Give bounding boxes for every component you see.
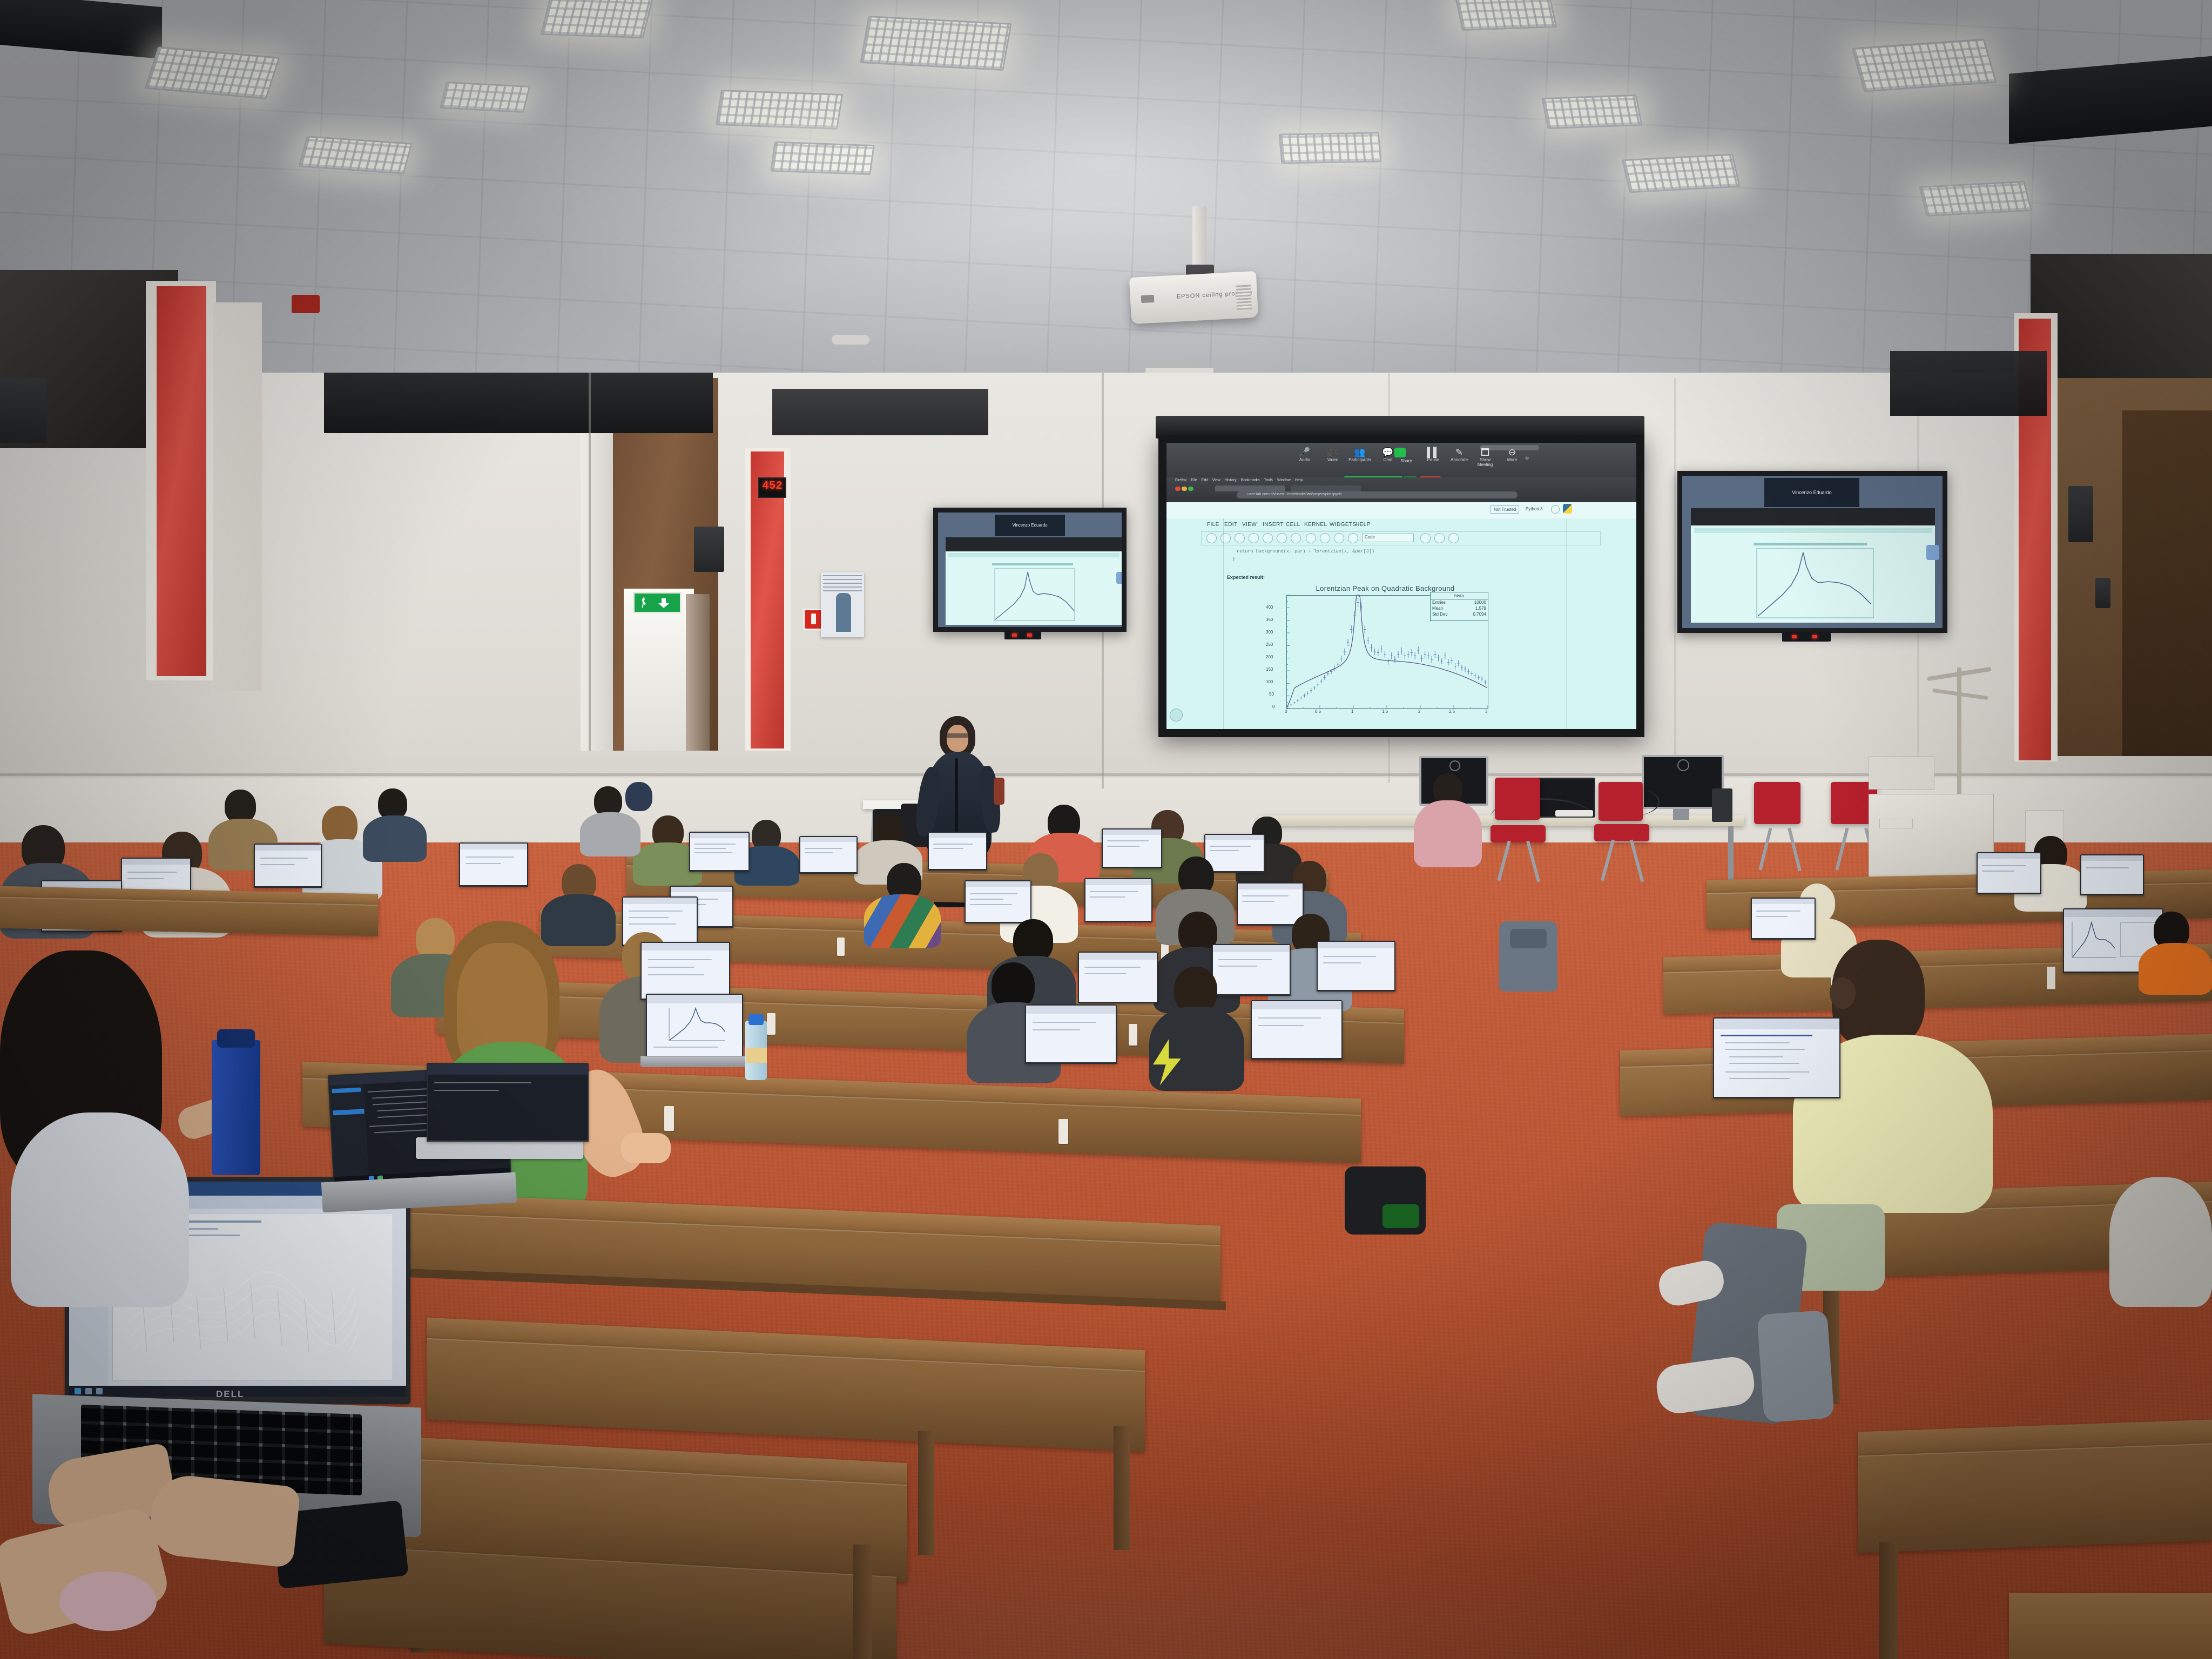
ceiling-light	[1851, 38, 1997, 92]
right-laptop-chart	[2071, 921, 2117, 959]
projector: EPSON ceiling projector	[1129, 271, 1258, 324]
screen-toolbar	[1318, 942, 1394, 948]
left-tv-chart	[992, 567, 1078, 623]
code-cell-close: }	[1232, 556, 1235, 562]
laptop-screen	[1103, 829, 1161, 867]
right-desk-row-f	[2009, 1593, 2212, 1659]
laptop-screen	[800, 837, 857, 872]
desk-leg	[853, 1545, 872, 1659]
fire-alarm-box	[292, 295, 320, 313]
instructor-head	[947, 725, 968, 752]
laptop[interactable]	[1204, 834, 1265, 873]
screen-toolbar	[1085, 879, 1151, 885]
running-man-icon	[641, 597, 646, 608]
ide-sidebar	[329, 1084, 369, 1177]
wall-speaker-left	[0, 378, 46, 443]
chart-xtick: 1.5	[1382, 709, 1388, 714]
bottle-cap	[748, 1014, 764, 1025]
ceiling-light	[1919, 181, 2032, 217]
chart-ytick: 50	[1269, 692, 1274, 697]
desktop-tower	[1712, 788, 1732, 822]
left-tv-led-strip	[1004, 631, 1041, 639]
projection-screen: 🎤 Audio 🎥 Video 👥 Participants 💬 Chat Sh…	[1166, 443, 1636, 729]
firefox-menu-history[interactable]: History	[1225, 478, 1237, 482]
student-orange-top	[2139, 943, 2212, 995]
firefox-menu-file[interactable]: File	[1191, 478, 1197, 482]
left-tv-lock-icon	[1116, 572, 1122, 584]
desk-clip	[767, 1013, 775, 1035]
laptop[interactable]	[1212, 944, 1291, 996]
laptop-screen	[1252, 1001, 1341, 1058]
zoom-meeting-toolbar[interactable]: 🎤 Audio 🎥 Video 👥 Participants 💬 Chat Sh…	[1166, 443, 1636, 477]
screen-toolbar	[1026, 1006, 1116, 1014]
dell-logo-icon	[1449, 760, 1460, 771]
right-tv-lock-icon	[1926, 545, 1939, 560]
neighbor-laptop-screen	[428, 1064, 588, 1140]
laptop-screen	[690, 833, 748, 870]
wall-speaker-right-2	[2095, 578, 2110, 608]
chart-ytick: 0	[1272, 704, 1274, 709]
screen-toolbar	[1079, 953, 1157, 960]
zoom-statusbar	[1480, 445, 1539, 450]
red-chair	[1495, 778, 1540, 820]
notebook-menu-kernel[interactable]: KERNEL	[1304, 522, 1327, 528]
laptop[interactable]	[2080, 854, 2144, 895]
firefox-menu-view[interactable]: View	[1212, 478, 1220, 482]
notebook-body: FILE EDIT VIEW INSERT CELL KERNEL WIDGET…	[1166, 518, 1636, 729]
screen-toolbar	[623, 898, 697, 904]
chart-ytick: 200	[1266, 655, 1273, 659]
ceiling-light	[1279, 132, 1382, 164]
laptop-screen	[1079, 953, 1157, 1002]
window-blind-right	[1890, 351, 2047, 416]
left-tv-nb-toolbar	[948, 553, 1120, 557]
laptop-screen	[647, 995, 742, 1056]
wall-poster	[821, 572, 864, 637]
laptop[interactable]	[799, 836, 858, 874]
chart-xtick: 3	[1485, 709, 1487, 714]
screen-toolbar	[929, 833, 986, 838]
screen-toolbar	[966, 881, 1030, 887]
left-tv-participant-name: Vincenzo Eduardo	[995, 515, 1065, 536]
zoom-menu-label[interactable]: ⚙	[1525, 456, 1529, 461]
window-blind-mid	[772, 389, 988, 435]
chart-ytick: 400	[1266, 605, 1273, 610]
projector-vent	[1236, 283, 1252, 309]
chart-ytick: 100	[1266, 679, 1273, 684]
zoom-annotate-label: Annotate	[1451, 457, 1468, 462]
grey-column-left	[213, 302, 262, 691]
chart-xtick: 2	[1418, 709, 1420, 714]
screen-toolbar	[1714, 1019, 1839, 1029]
laptop[interactable]	[1751, 898, 1816, 940]
chart-xtick: 0.5	[1315, 709, 1321, 714]
dell-logo-icon	[1677, 759, 1689, 771]
laptop-screen	[1205, 835, 1264, 871]
wall-seam	[589, 373, 591, 751]
left-tv-chart-title	[992, 563, 1073, 565]
screen-toolbar	[690, 833, 748, 838]
zoom-pause-label: Pause	[1427, 457, 1440, 462]
notebook-menu-edit[interactable]: EDIT	[1224, 522, 1237, 528]
screen-toolbar	[1213, 945, 1290, 952]
red-chair-seat	[1594, 824, 1649, 841]
right-tv-chart-title	[1754, 543, 1867, 545]
right-desk-row-e-face	[1858, 1444, 2212, 1553]
kernel-busy-indicator	[1551, 505, 1560, 514]
zoom-video-label: Video	[1327, 457, 1338, 462]
ceiling-light	[1454, 0, 1557, 31]
door-right	[2122, 410, 2212, 756]
zoom-participants-label: Participants	[1348, 457, 1371, 462]
laptop-screen	[1213, 945, 1290, 994]
desk-leg	[1114, 1426, 1130, 1550]
laptop-screen	[1714, 1019, 1839, 1097]
notebook-header: Not Trusted Python 3	[1166, 502, 1636, 518]
chart-ytick: 350	[1266, 617, 1273, 622]
screen-toolbar	[1103, 829, 1161, 835]
laptop-screen	[460, 844, 527, 885]
right-tv-led-strip	[1782, 632, 1831, 642]
pause-icon: ▌▌	[1420, 447, 1446, 457]
laptop[interactable]	[1102, 828, 1162, 868]
laptop[interactable]	[640, 942, 730, 1000]
power-strip	[1555, 810, 1593, 817]
camera-icon: 🎥	[1320, 447, 1346, 457]
right-wall-tv: Vincenzo Eduardo	[1677, 471, 1947, 633]
laptop[interactable]	[459, 842, 528, 887]
screen-toolbar	[1978, 853, 2040, 859]
screen-toolbar	[255, 845, 321, 851]
laptop-screen	[1978, 853, 2040, 893]
student-leg	[1757, 1310, 1835, 1423]
laptop-base	[640, 1056, 746, 1067]
screen-toolbar	[428, 1064, 588, 1075]
laptop-screen	[1752, 899, 1815, 938]
microphone-icon: 🎤	[1292, 447, 1318, 457]
right-tv-participant-name: Vincenzo Eduardo	[1764, 478, 1859, 507]
ceiling-light	[1541, 95, 1642, 129]
laptop-screen	[255, 845, 321, 886]
laptop[interactable]	[1025, 1004, 1117, 1064]
pencil-icon: ✎	[1446, 447, 1472, 457]
desk-clip	[664, 1106, 674, 1131]
screen-toolbar	[642, 943, 729, 950]
student-torso-patterned	[864, 894, 941, 948]
firefox-menu-help[interactable]: Help	[1295, 478, 1303, 482]
laptop[interactable]	[1251, 1000, 1343, 1060]
zoom-audio-label: Audio	[1299, 457, 1310, 462]
notebook-gutter-line	[1223, 518, 1224, 729]
laptop[interactable]	[1084, 878, 1152, 922]
student-cap	[625, 782, 652, 811]
cabinet-drawer	[1879, 819, 1913, 828]
ceiling-light	[860, 16, 1012, 71]
firefox-menu-window[interactable]: Window	[1277, 478, 1291, 482]
chart-ytick: 300	[1266, 630, 1273, 635]
notebook-menu-help[interactable]: HELP	[1355, 522, 1371, 528]
zoom-chat-label: Chat	[1384, 457, 1393, 462]
zoom-show-meeting-label: Show Meeting	[1478, 457, 1493, 467]
zoom-more-label: More	[1507, 457, 1517, 462]
taskbar-app-icon[interactable]	[85, 1388, 92, 1394]
address-bar-url: user-lab.cern.ch/user/.../notebooks/lab/…	[1247, 493, 1507, 496]
fire-extinguisher-icon	[811, 613, 816, 624]
code-cell-line: return background(x, par) + lorentzian(x…	[1237, 549, 1374, 554]
screen-toolbar	[122, 859, 190, 865]
front-bench-leg	[1728, 826, 1734, 888]
laptop[interactable]	[254, 844, 322, 888]
chart-xtick: 2.5	[1449, 709, 1455, 714]
laptop[interactable]	[1078, 952, 1158, 1003]
foreground-student-laptop[interactable]	[1713, 1017, 1840, 1098]
foreground-student-ear	[1830, 977, 1856, 1009]
taskbar-app-icon[interactable]	[96, 1388, 103, 1394]
left-tv-browser-chrome	[946, 537, 1122, 552]
firefox-browser-chrome: Firefox File Edit View History Bookmarks…	[1166, 477, 1636, 502]
laptop-screen	[966, 881, 1030, 922]
laptop-screen	[929, 833, 986, 869]
zoom-share-button[interactable]: Share	[1393, 458, 1419, 463]
blue-water-bottle	[212, 1040, 260, 1175]
screen-toolbar	[2081, 855, 2143, 861]
poster-text-lines	[823, 575, 862, 591]
ceiling-light	[770, 141, 875, 175]
user-hand-right	[147, 1472, 301, 1568]
browser-tab[interactable]	[1291, 485, 1361, 491]
poster-figure	[836, 593, 851, 632]
down-arrow-icon	[658, 598, 669, 608]
laptop[interactable]	[1237, 882, 1304, 926]
right-wall-tv-screen: Vincenzo Eduardo	[1682, 476, 1943, 628]
laptop[interactable]	[1977, 852, 2041, 894]
notebook-trust-badge: Not Trusted	[1491, 505, 1519, 514]
screen-toolbar	[800, 837, 857, 842]
floor-bag-detail	[1382, 1204, 1419, 1228]
laptop-screen	[2081, 855, 2143, 894]
front-student-torso	[1414, 800, 1482, 867]
zoom-audio-button[interactable]: 🎤 Audio	[1292, 447, 1318, 462]
window-maximize-icon[interactable]	[1188, 487, 1193, 491]
screen-toolbar	[1252, 1001, 1341, 1009]
red-chair	[1599, 782, 1643, 821]
laptop-screen	[1085, 879, 1151, 921]
water-bottle	[994, 778, 1004, 805]
red-chair	[1754, 782, 1800, 824]
wall-speaker-mid	[694, 527, 724, 572]
lorentzian-chart: Lorentzian Peak on Quadratic Background …	[1258, 584, 1512, 720]
window-minimize-icon[interactable]	[1182, 487, 1187, 491]
screen-toolbar	[1205, 835, 1264, 840]
desk-clip	[1129, 1024, 1137, 1046]
bottle-cap	[217, 1029, 255, 1048]
notebook-menu-cell[interactable]: CELL	[1286, 522, 1300, 528]
laptop-screen	[642, 943, 729, 999]
desk-leg	[918, 1431, 934, 1555]
projector-lens	[1141, 295, 1155, 303]
zoom-participants-button[interactable]: 👥 Participants	[1347, 447, 1373, 462]
windows-start-icon[interactable]	[75, 1388, 81, 1394]
firefox-menu-bar[interactable]: Firefox File Edit View History Bookmarks…	[1175, 478, 1303, 482]
ceiling-light	[716, 90, 843, 130]
student-torso	[580, 812, 640, 857]
zoom-annotate-button[interactable]: ✎ Annotate	[1446, 447, 1472, 462]
ceiling-light	[540, 0, 653, 38]
zoom-video-button[interactable]: 🎥 Video	[1320, 447, 1346, 462]
laptop-screen	[1026, 1006, 1116, 1062]
notebook-menu-file[interactable]: FILE	[1207, 522, 1219, 528]
desk-clip	[1058, 1119, 1068, 1144]
chart-xtick: 1	[1351, 709, 1353, 714]
laptop[interactable]	[928, 832, 987, 871]
student-torso-edge	[2109, 1177, 2212, 1307]
neighbor-laptop[interactable]	[427, 1063, 589, 1142]
screen-toolbar	[1752, 899, 1815, 904]
ceiling-speaker	[832, 335, 869, 345]
student-head	[225, 790, 256, 823]
notebook-menu-insert[interactable]: INSERT	[1263, 522, 1284, 528]
backpack-pocket	[1510, 929, 1547, 948]
laptop[interactable]	[965, 880, 1031, 923]
exit-sign	[633, 592, 682, 613]
laptop-chart-plot	[667, 1007, 727, 1042]
zoom-share-active-indicator	[1394, 448, 1406, 457]
desk-clip	[2047, 967, 2055, 989]
wall-panel-box	[1869, 756, 1934, 790]
right-tv-browser-chrome	[1691, 508, 1935, 527]
people-icon: 👥	[1347, 447, 1373, 457]
laptop-screen	[1318, 942, 1394, 990]
chart-ytick: 150	[1266, 667, 1273, 672]
zoom-share-label: Share	[1400, 458, 1412, 463]
laptop-with-chart[interactable]	[646, 994, 743, 1057]
right-tv-chart	[1754, 546, 1878, 621]
left-wall-tv-screen: Vincenzo Eduardo	[938, 512, 1122, 627]
student-hand	[621, 1133, 671, 1163]
notebook-menu-view[interactable]: VIEW	[1242, 522, 1257, 528]
led-display: 452	[758, 477, 786, 498]
firefox-menu-tools[interactable]: Tools	[1264, 478, 1273, 482]
monitor-stand	[1673, 809, 1689, 820]
window-close-icon[interactable]	[1175, 487, 1181, 491]
led-display-value: 452	[759, 478, 785, 495]
expected-result-label: Expected result:	[1227, 575, 1265, 580]
wall-speaker-right	[2068, 486, 2093, 542]
laptop[interactable]	[1317, 941, 1395, 992]
student-white-shirt	[11, 1112, 189, 1307]
bottle-label	[746, 1048, 767, 1063]
laptop-screen	[1238, 884, 1303, 924]
firefox-menu-app[interactable]: Firefox	[1175, 478, 1186, 482]
desk-leg	[1879, 1542, 1898, 1659]
chart-xtick: 0	[1285, 709, 1287, 714]
hair-scrunchie	[59, 1572, 157, 1631]
notebook-right-line	[1566, 518, 1567, 729]
zoom-pause-button[interactable]: ▌▌ Pause	[1420, 447, 1446, 462]
chart-ytick: 250	[1266, 642, 1273, 647]
wall-seam	[1674, 378, 1676, 783]
screen-toolbar	[460, 844, 527, 849]
notebook-toolbar-frame	[1201, 531, 1601, 545]
notebook-footer-icon	[1170, 709, 1183, 721]
screen-toolbar	[2064, 909, 2162, 917]
red-chair-seat	[1491, 825, 1546, 842]
browser-tab[interactable]	[1215, 485, 1285, 491]
laptop[interactable]	[689, 832, 750, 872]
chart-plot-area	[1286, 595, 1487, 709]
firefox-menu-bookmarks[interactable]: Bookmarks	[1241, 478, 1260, 482]
ceiling-light	[1622, 154, 1741, 193]
right-tv-nb-toolbar	[1694, 528, 1932, 533]
left-wall-tv: Vincenzo Eduardo	[933, 508, 1127, 632]
instructor-glasses	[946, 733, 969, 738]
doorway-depth	[686, 594, 710, 751]
screen-toolbar	[647, 995, 742, 1003]
red-column-left	[157, 286, 206, 676]
left-tv-shared-content	[946, 551, 1122, 625]
student-torso	[541, 894, 616, 946]
lecture-hall-photo: EPSON ceiling projector 452	[0, 0, 2212, 1659]
ceiling-light	[440, 82, 530, 113]
right-tv-shared-content	[1691, 525, 1935, 623]
notebook-menu-widgets[interactable]: WIDGETS	[1330, 522, 1356, 528]
screen-toolbar	[671, 887, 732, 892]
dell-logo-icon: DELL	[216, 1389, 244, 1400]
desk-clip	[837, 938, 845, 956]
python-logo-icon	[1563, 504, 1572, 514]
student-torso	[363, 815, 427, 862]
instructor-shirt-placket	[955, 758, 958, 839]
screen-toolbar	[1238, 884, 1303, 889]
firefox-menu-edit[interactable]: Edit	[1202, 478, 1208, 482]
chart-title: Lorentzian Peak on Quadratic Background	[1258, 584, 1512, 592]
notebook-kernel-label: Python 3	[1526, 507, 1543, 511]
window-blind-left	[324, 373, 713, 433]
